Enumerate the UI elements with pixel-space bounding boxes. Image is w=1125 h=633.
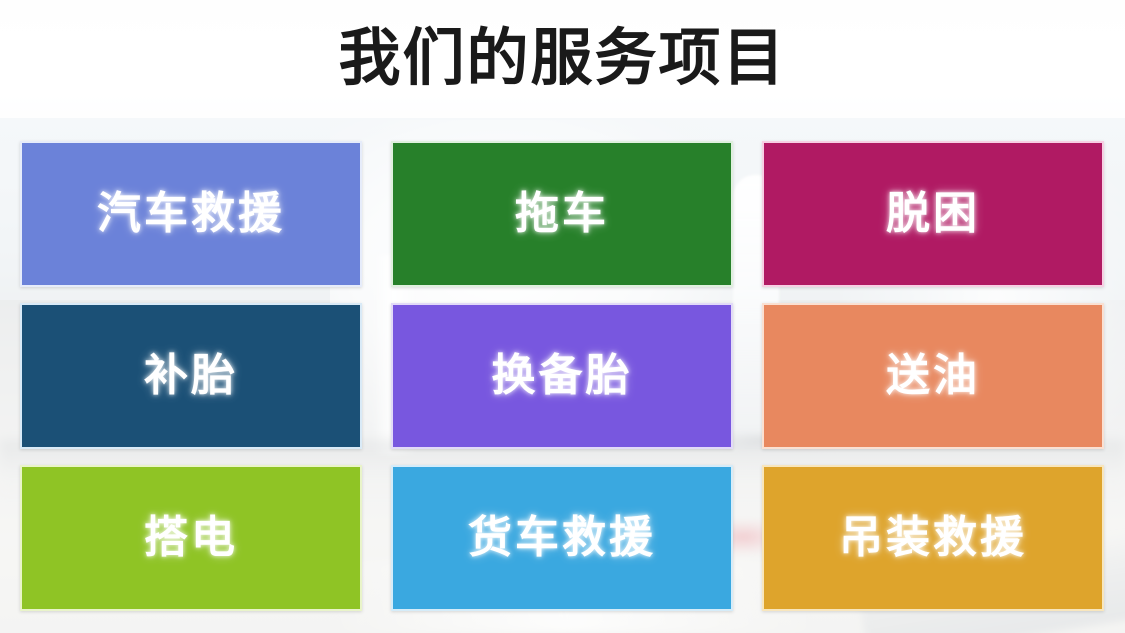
service-tile-crane-hoist-rescue[interactable]: 吊装救援 [762, 465, 1104, 611]
service-tile-extrication[interactable]: 脱困 [762, 141, 1104, 287]
service-tile-jump-start[interactable]: 搭电 [20, 465, 362, 611]
service-tile-label: 换备胎 [492, 354, 633, 398]
service-tile-truck-rescue[interactable]: 货车救援 [391, 465, 733, 611]
service-tile-label: 汽车救援 [97, 192, 285, 236]
service-tile-label: 脱困 [886, 192, 980, 236]
service-tile-tire-repair[interactable]: 补胎 [20, 303, 362, 449]
service-tile-tow-truck[interactable]: 拖车 [391, 141, 733, 287]
service-tile-fuel-delivery[interactable]: 送油 [762, 303, 1104, 449]
service-poster: 我们的服务项目 汽车救援 拖车 脱困 补胎 换备胎 送油 搭电 货车救援 吊装救… [0, 0, 1125, 633]
service-grid: 汽车救援 拖车 脱困 补胎 换备胎 送油 搭电 货车救援 吊装救援 [20, 141, 1105, 612]
service-tile-label: 补胎 [144, 354, 238, 398]
service-tile-label: 货车救援 [468, 516, 656, 560]
service-tile-spare-tire-change[interactable]: 换备胎 [391, 303, 733, 449]
service-tile-label: 搭电 [144, 516, 238, 560]
service-tile-label: 拖车 [515, 192, 609, 236]
service-tile-car-rescue[interactable]: 汽车救援 [20, 141, 362, 287]
page-title: 我们的服务项目 [338, 28, 786, 90]
service-tile-label: 送油 [886, 354, 980, 398]
title-bar: 我们的服务项目 [0, 0, 1125, 118]
service-tile-label: 吊装救援 [839, 516, 1027, 560]
